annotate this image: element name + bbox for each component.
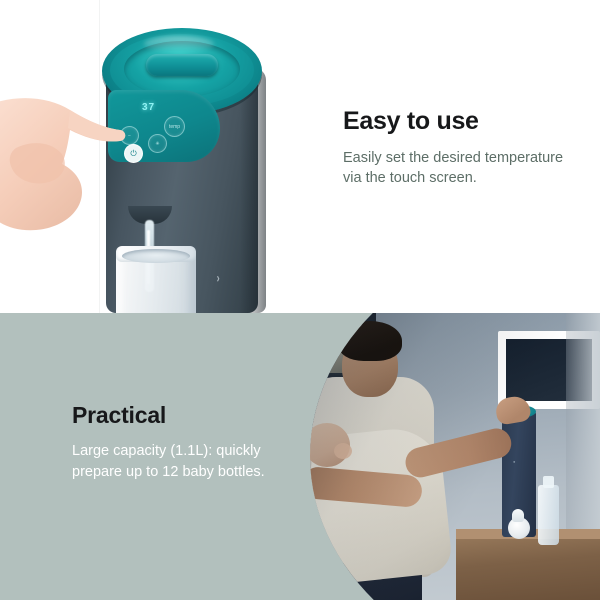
- temperature-display: 37: [142, 102, 155, 113]
- photo-glass-bottle-neck: [543, 476, 554, 488]
- power-button[interactable]: ⏻: [124, 144, 143, 163]
- device-lid-handle[interactable]: [146, 54, 218, 76]
- lid-highlight: [144, 36, 214, 52]
- top-headline: Easy to use: [343, 108, 578, 136]
- top-body-text: Easily set the desired temperature via t…: [343, 148, 578, 189]
- hand-pressing-illustration: [0, 88, 126, 238]
- cool-button[interactable]: ✳: [148, 134, 167, 153]
- device-body-shading: [240, 68, 266, 313]
- baby-bottle-opening: [122, 249, 190, 263]
- bottom-feature-panel: Practical Large capacity (1.1L): quickly…: [0, 313, 600, 600]
- lifestyle-photo: ●: [280, 313, 600, 600]
- top-feature-panel: 37 temp − ✳ ⏻ ❱: [0, 0, 600, 313]
- bottom-body-text: Large capacity (1.1L): quickly prepare u…: [72, 441, 272, 483]
- photo-side-table: [456, 529, 600, 600]
- photo-baby-cheek: [334, 443, 352, 459]
- photo-machine-logo-icon: ●: [513, 459, 515, 464]
- photo-man-hair: [338, 321, 402, 361]
- product-feature-graphic: 37 temp − ✳ ⏻ ❱: [0, 0, 600, 600]
- photo-glass-water-bottle: [538, 485, 559, 545]
- photo-bottle-teat-tip: [512, 509, 524, 522]
- top-copy-block: Easy to use Easily set the desired tempe…: [343, 108, 578, 189]
- bottom-headline: Practical: [72, 403, 272, 428]
- bottom-copy-block: Practical Large capacity (1.1L): quickly…: [72, 403, 272, 483]
- temperature-button[interactable]: temp: [164, 116, 185, 137]
- device-logo-icon: ❱: [216, 276, 221, 282]
